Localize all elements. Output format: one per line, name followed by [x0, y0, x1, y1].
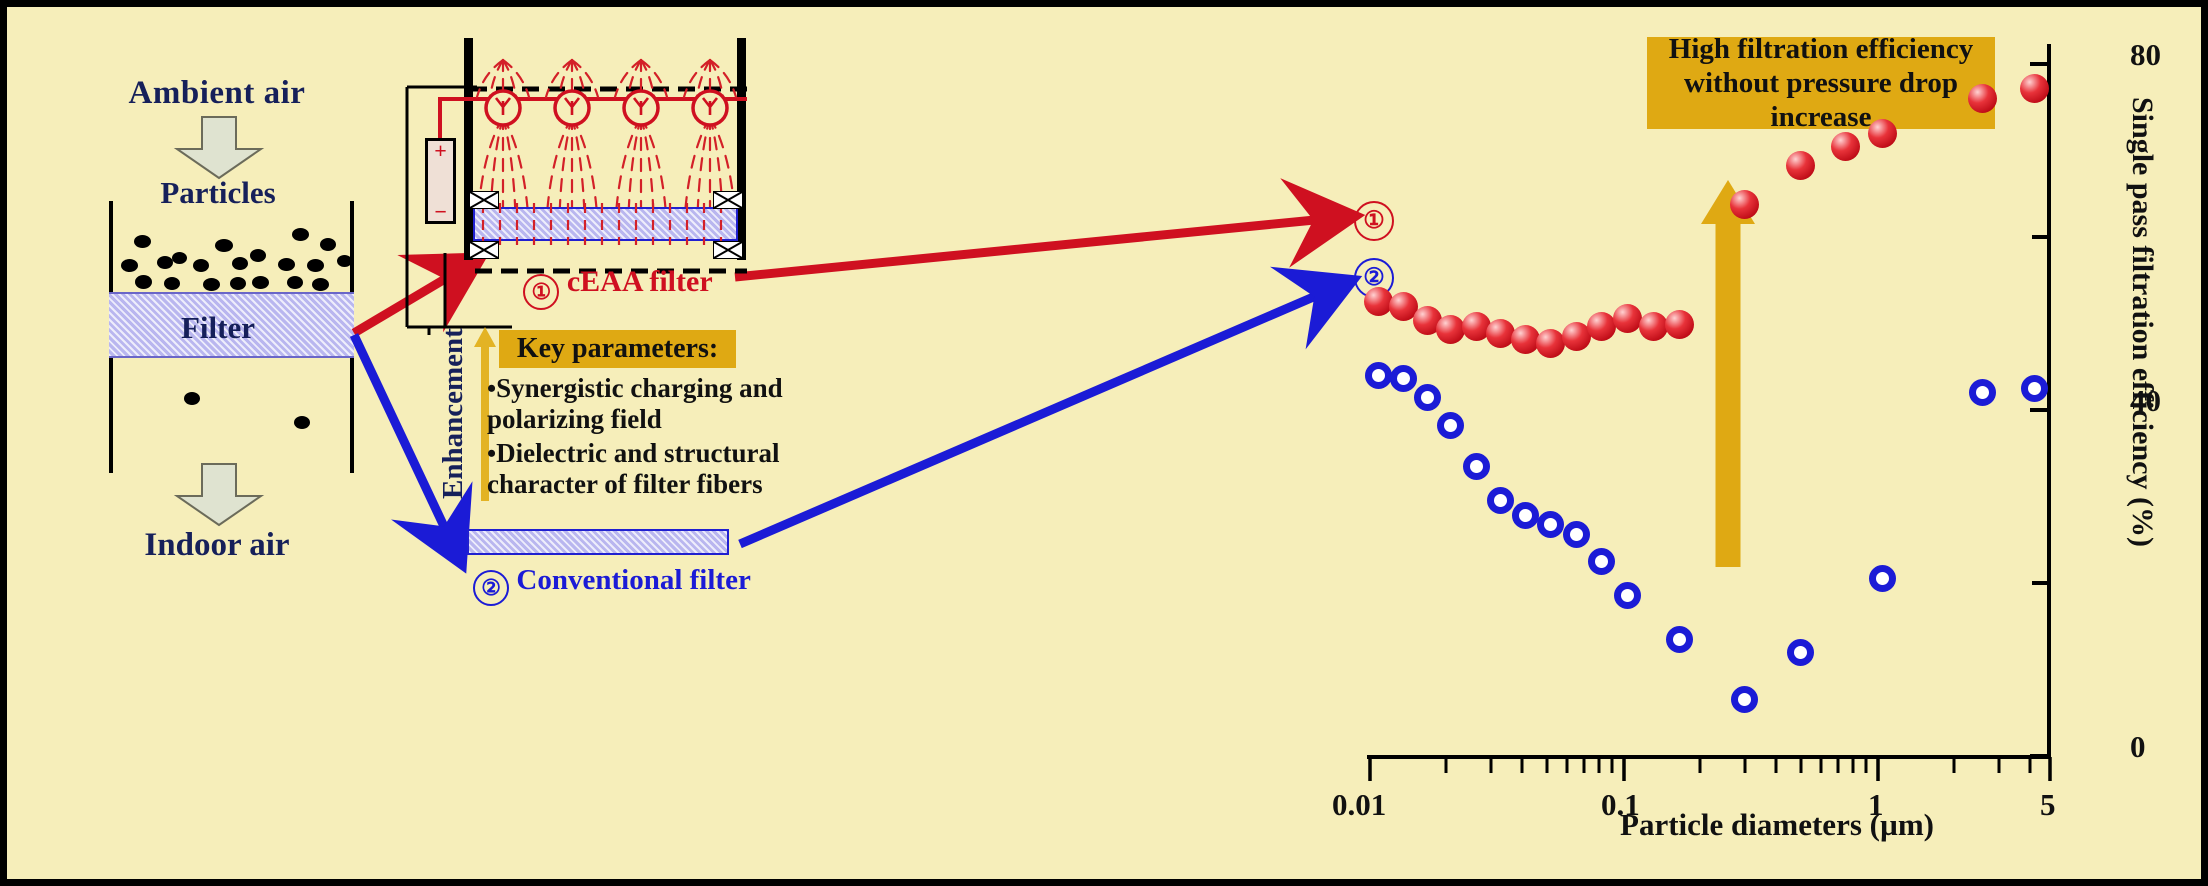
data-point-series-1 [2020, 74, 2049, 103]
data-point-series-2 [1588, 548, 1615, 575]
filter-label: Filter [93, 310, 343, 346]
data-point-series-2 [2021, 375, 2048, 402]
data-point-series-2 [1969, 379, 1996, 406]
scatter-plot-layer [7, 7, 2208, 886]
data-point-series-2 [1614, 582, 1641, 609]
data-point-series-1 [1639, 312, 1668, 341]
data-point-series-2 [1390, 365, 1417, 392]
data-point-series-1 [1613, 304, 1642, 333]
data-point-series-2 [1463, 453, 1490, 480]
data-point-series-2 [1487, 487, 1514, 514]
data-point-series-1 [1730, 190, 1759, 219]
data-point-series-2 [1365, 362, 1392, 389]
figure-canvas: Ambient air Particles Filter [0, 0, 2208, 886]
data-point-series-2 [1787, 639, 1814, 666]
data-point-series-2 [1537, 511, 1564, 538]
data-point-series-2 [1869, 565, 1896, 592]
data-point-series-2 [1666, 626, 1693, 653]
data-point-series-2 [1414, 384, 1441, 411]
data-point-series-2 [1512, 502, 1539, 529]
data-point-series-1 [1587, 312, 1616, 341]
data-point-series-1 [1868, 119, 1897, 148]
data-point-series-1 [1436, 315, 1465, 344]
data-point-series-2 [1437, 412, 1464, 439]
data-point-series-1 [1968, 84, 1997, 113]
data-point-series-1 [1536, 329, 1565, 358]
data-point-series-1 [1831, 132, 1860, 161]
data-point-series-1 [1665, 310, 1694, 339]
data-point-series-2 [1563, 521, 1590, 548]
data-point-series-1 [1786, 151, 1815, 180]
data-point-series-2 [1731, 686, 1758, 713]
